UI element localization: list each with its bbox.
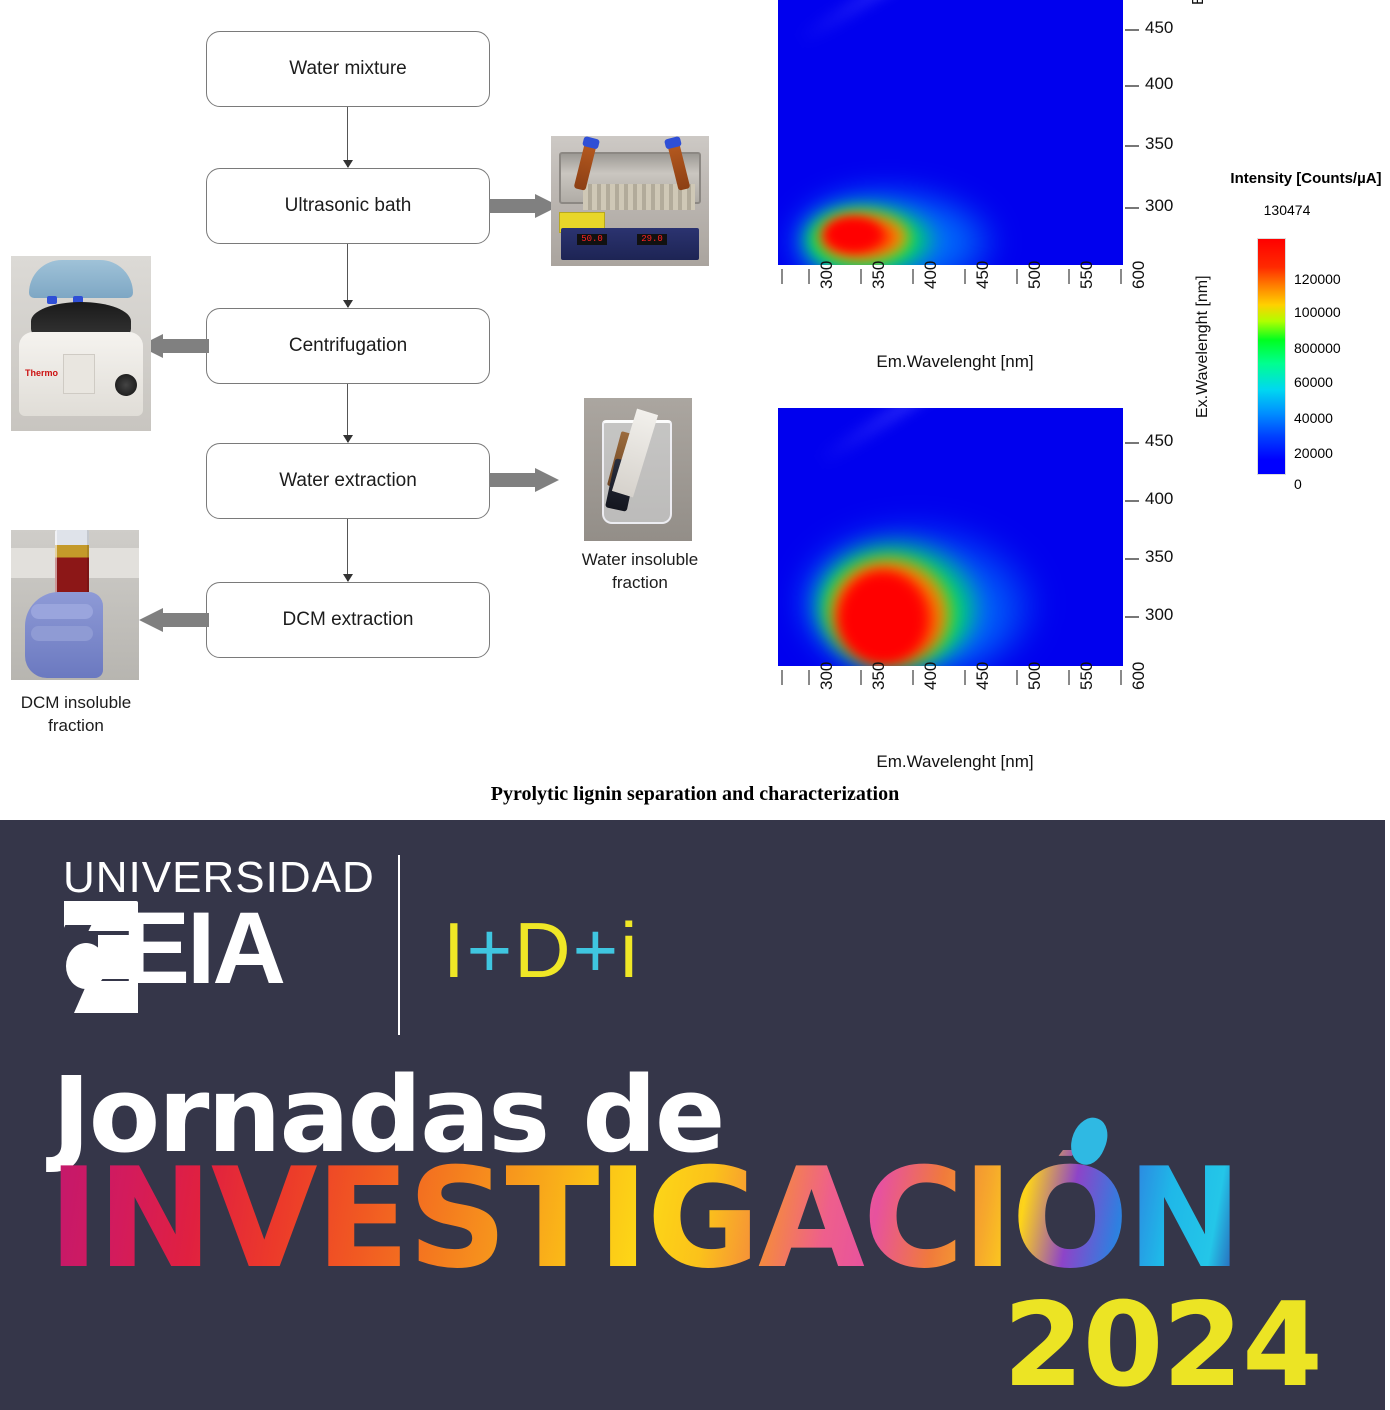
caption-line-2: fraction [560,572,720,595]
logo-divider [398,855,400,1035]
colorbar-max-value: 130474 [1232,202,1342,218]
flow-step-label: Centrifugation [289,335,407,357]
eem-plot-area [778,0,1123,265]
colorbar-tick-label: 100000 [1294,304,1341,320]
flow-arrow-down-icon [347,107,348,167]
eia-wordmark: EIA [60,901,350,1013]
x-tick-label: 500 [1025,261,1045,289]
x-tick-label: 550 [1077,662,1097,690]
x-tick-label: 600 [1129,662,1149,690]
dcm-insoluble-tube-photo [11,530,139,680]
y-tick-label: 350 [1145,547,1173,567]
colorbar-tick-label: 800000 [1294,340,1341,356]
flow-step-water-extraction: Water extraction [206,443,490,519]
y-axis-title: Ex.Wavelenght [nm] [1190,0,1208,5]
flow-step-label: Water extraction [279,470,417,492]
x-tick-label: 400 [921,261,941,289]
flow-step-label: DCM extraction [283,609,414,631]
colorbar-tick-label: 60000 [1294,374,1333,390]
water-insoluble-beaker-photo [584,398,692,541]
x-tick-label: 600 [1129,261,1149,289]
x-tick-label: 350 [869,662,889,690]
flow-step-label: Water mixture [289,58,407,80]
intensity-colorbar: Intensity [Counts/µA] 130474 120000 1000… [1222,170,1390,510]
y-tick-label: 300 [1145,196,1173,216]
caption-water-insoluble-fraction: Water insoluble fraction [560,549,720,595]
event-year: 2024 [1003,1288,1322,1404]
idi-i2: i [620,906,639,994]
idi-plus1: + [467,906,515,994]
caption-line-1: DCM insoluble [0,692,152,715]
eem-plot-area [778,408,1123,666]
colorbar-tick-label: 120000 [1294,271,1341,287]
figure-panel: Water mixture Ultrasonic bath Centrifuga… [0,0,1390,820]
y-tick-label: 350 [1145,134,1173,154]
x-tick-label: 300 [817,662,837,690]
flow-arrow-down-icon [347,384,348,442]
flow-step-label: Ultrasonic bath [285,195,412,217]
x-tick-label: 450 [973,261,993,289]
y-tick-label: 400 [1145,489,1173,509]
x-tick-label: 350 [869,261,889,289]
caption-line-1: Water insoluble [560,549,720,572]
colorbar-tick-label: 40000 [1294,410,1333,426]
centrifuge-photo: Thermo [11,256,151,431]
ultrasonic-bath-photo: 50.0 29.0 [551,136,709,266]
flow-step-dcm-extraction: DCM extraction [206,582,490,658]
x-tick-label: 450 [973,662,993,690]
flow-arrow-right-icon [489,468,559,492]
x-tick-label: 500 [1025,662,1045,690]
eem-chart-water-insoluble: 450 400 350 300 Ex.Wavelenght [nm] 300 3… [770,0,1190,377]
logo-eia-acronym: EIA [122,897,283,999]
flow-arrow-down-icon [347,519,348,581]
x-tick-label: 550 [1077,261,1097,289]
flow-step-ultrasonic-bath: Ultrasonic bath [206,168,490,244]
flow-step-water-mixture: Water mixture [206,31,490,107]
bath-display-right: 29.0 [637,234,667,245]
idi-logo: I+D+i [443,905,639,996]
colorbar-gradient [1257,238,1286,475]
bath-display-left: 50.0 [577,234,607,245]
colorbar-tick-label: 0 [1294,476,1302,492]
caption-dcm-insoluble-fraction: DCM insoluble fraction [0,692,152,738]
flow-arrow-down-icon [347,244,348,307]
x-tick-label: 400 [921,662,941,690]
y-tick-label: 450 [1145,18,1173,38]
universidad-eia-logo: UNIVERSIDAD EIA [60,853,350,1018]
caption-line-2: fraction [0,715,152,738]
x-tick-label: 300 [817,261,837,289]
y-tick-label: 450 [1145,431,1173,451]
idi-plus2: + [573,906,621,994]
y-axis-title: Ex.Wavelenght [nm] [1194,275,1212,418]
colorbar-tick-label: 20000 [1294,445,1333,461]
flow-step-centrifugation: Centrifugation [206,308,490,384]
idi-i1: I [443,906,467,994]
x-axis-title: Em.Wavelenght [nm] [770,352,1140,372]
y-tick-label: 400 [1145,74,1173,94]
x-axis-title: Em.Wavelenght [nm] [770,752,1140,772]
idi-d: D [514,906,572,994]
flow-arrow-right-icon [489,194,559,218]
y-tick-label: 300 [1145,605,1173,625]
eem-chart-dcm-insoluble: 450 400 350 300 Ex.Wavelenght [nm] 300 3… [770,400,1240,765]
colorbar-title: Intensity [Counts/µA] [1222,170,1390,187]
figure-caption: Pyrolytic lignin separation and characte… [0,783,1390,806]
poster-page: Water mixture Ultrasonic bath Centrifuga… [0,0,1390,1410]
event-title-line2: INVESTIGACIÓN [48,1150,1240,1288]
flow-arrow-left-icon [139,608,209,632]
